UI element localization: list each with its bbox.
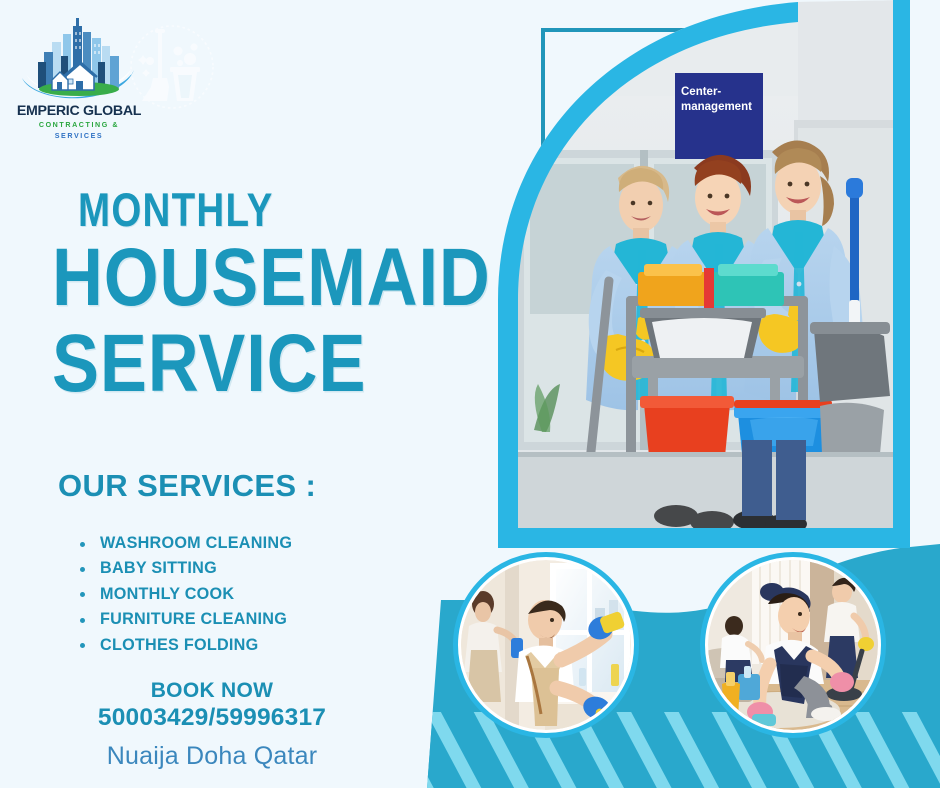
poster-canvas: EMPERIC GLOBAL CONTRACTING & SERVICES MO… <box>0 0 940 788</box>
services-list: WASHROOM CLEANING BABY SITTING MONTHLY C… <box>74 531 292 658</box>
list-item: BABY SITTING <box>74 556 292 581</box>
book-now-label: BOOK NOW <box>0 679 424 703</box>
list-item: MONTHLY COOK <box>74 582 292 607</box>
broom-and-bucket-watermark-icon <box>126 21 218 113</box>
list-item: FURNITURE CLEANING <box>74 607 292 632</box>
brand-logo: EMPERIC GLOBAL CONTRACTING & SERVICES <box>14 16 144 142</box>
svg-text:Center-: Center- <box>681 86 721 98</box>
phone-number[interactable]: 50003429/59996317 <box>0 704 424 732</box>
city-skyline-house-logo-icon <box>14 16 144 104</box>
svg-text:management: management <box>681 101 752 113</box>
headline-line-2: SERVICE <box>52 323 366 405</box>
hero-photo-block: Center- management <box>498 0 940 548</box>
man-cleaning-window-photo <box>461 560 631 730</box>
headline-line-1: HOUSEMAID <box>52 237 491 319</box>
logo-company-name: EMPERIC GLOBAL <box>14 104 144 119</box>
location-label: Nuaija Doha Qatar <box>0 742 424 771</box>
list-item: CLOTHES FOLDING <box>74 633 292 658</box>
headline-kicker: MONTHLY <box>78 182 274 237</box>
woman-cleaning-floor-photo <box>708 560 878 730</box>
logo-tagline-line1: CONTRACTING & <box>14 121 144 129</box>
list-item: WASHROOM CLEANING <box>74 531 292 556</box>
logo-tagline-line2: SERVICES <box>14 132 144 140</box>
services-heading: OUR SERVICES : <box>58 468 316 504</box>
three-cleaning-staff-thumbs-up-photo: Center- management <box>498 0 910 548</box>
